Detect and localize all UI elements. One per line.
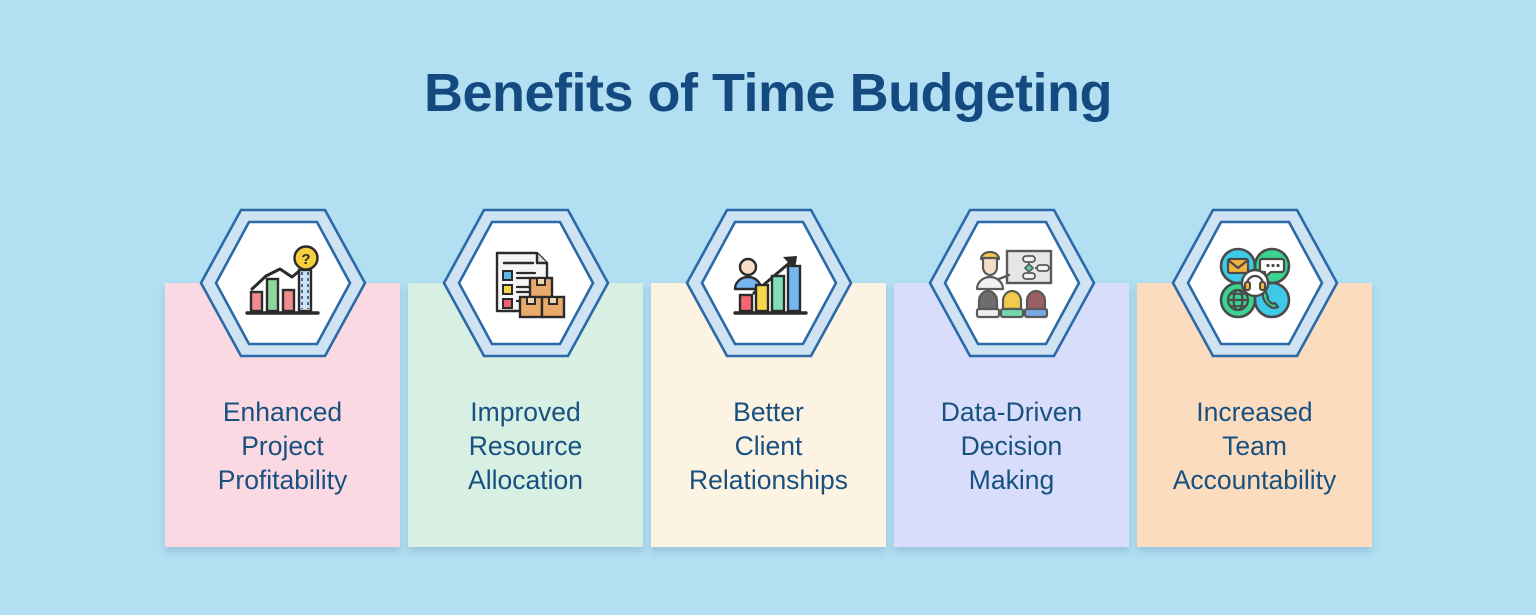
benefit-card-3-label: Better Client Relationships <box>651 395 886 497</box>
bar-chart-trend-question-coin-icon: ? <box>199 208 367 358</box>
benefit-card-2-label: Improved Resource Allocation <box>408 395 643 497</box>
hexagon-slot-1: ? <box>165 208 400 358</box>
benefit-card-1-label: Enhanced Project Profitability <box>165 395 400 497</box>
hexagon-badges-row: ? <box>165 208 1372 358</box>
hexagon-badge-3[interactable] <box>685 208 853 358</box>
communication-network-headset-icon <box>1171 208 1339 358</box>
benefit-card-4-label: Data-Driven Decision Making <box>894 395 1129 497</box>
svg-text:?: ? <box>301 251 310 268</box>
infographic-page: Benefits of Time Budgeting Enhanced Proj… <box>0 0 1536 615</box>
person-growth-chart-arrow-icon <box>685 208 853 358</box>
benefit-card-5-label: Increased Team Accountability <box>1137 395 1372 497</box>
page-title: Benefits of Time Budgeting <box>0 62 1536 124</box>
hexagon-slot-5 <box>1137 208 1372 358</box>
hexagon-badge-4[interactable] <box>928 208 1096 358</box>
presenter-whiteboard-audience-icon <box>928 208 1096 358</box>
hexagon-badge-2[interactable] <box>442 208 610 358</box>
hexagon-slot-4 <box>894 208 1129 358</box>
checklist-boxes-icon <box>442 208 610 358</box>
hexagon-badge-5[interactable] <box>1171 208 1339 358</box>
hexagon-slot-3 <box>651 208 886 358</box>
hexagon-badge-1[interactable]: ? <box>199 208 367 358</box>
hexagon-slot-2 <box>408 208 643 358</box>
